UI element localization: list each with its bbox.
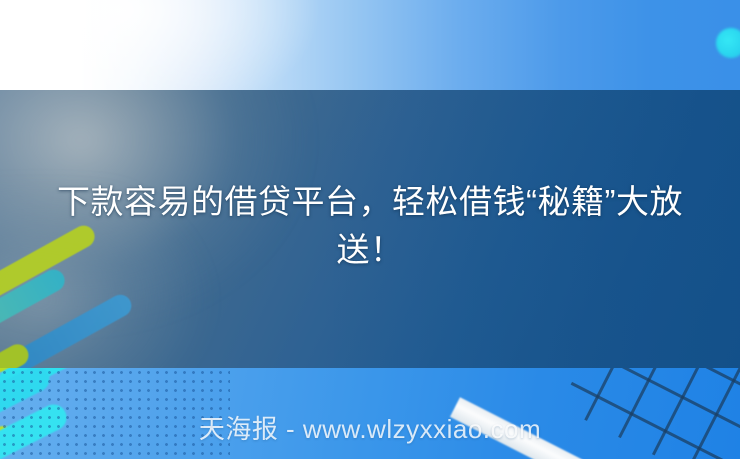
halftone-dot-pattern [0,368,230,459]
top-band-light-sheen [0,0,330,90]
cyan-blob-icon [716,28,740,58]
background-shade-right [320,90,740,368]
promo-poster: 下款容易的借贷平台，轻松借钱“秘籍”大放送！ 天海报 - www.wlzyxxi… [0,0,740,459]
photo-footer-section [0,368,740,459]
volleyball-net-mesh-icon [579,368,740,459]
decorative-diagonal-bars-upper [0,215,180,368]
headline-section [0,90,740,368]
top-gradient-band [0,0,740,90]
